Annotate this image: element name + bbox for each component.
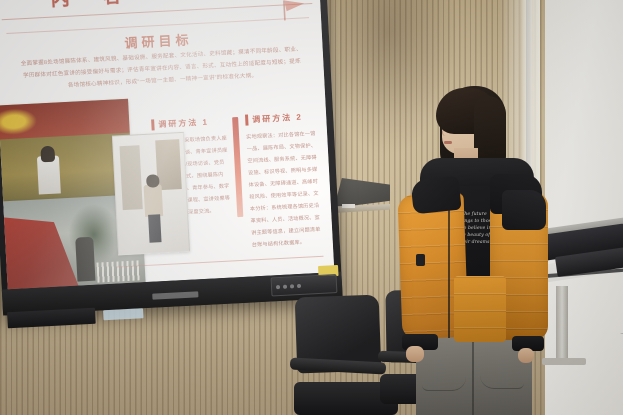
presenter: The future belongs to those who believe … (394, 86, 552, 415)
shelf-item (342, 204, 355, 208)
wall-mounted-shelf (334, 178, 390, 224)
jacket-shoulder-left (410, 176, 461, 215)
desk-cable (614, 290, 623, 334)
source-button-icon[interactable] (290, 284, 294, 288)
method-2-title: 调研方法 2 (245, 111, 317, 126)
display-screen[interactable]: 内 容 调研目标 全面掌握8处场馆展陈体系、建筑风貌、基础设施、服务配套、文化活… (0, 0, 334, 289)
method-2-body: 实地观察法：对比各馆在一馆一品、展陈布局、文物保护、空间流线、服务系统、无障碍设… (246, 129, 324, 252)
red-flag-icon (280, 0, 307, 23)
mouth (444, 141, 452, 144)
standing-person-figure (143, 176, 164, 243)
volume-button-icon[interactable] (283, 284, 287, 288)
hall-speaker-figure (36, 146, 60, 195)
figure-coat (144, 184, 164, 217)
display-brand-mark (152, 291, 198, 299)
party-emblem-icon (0, 108, 38, 136)
jacket-sleeve-black-yoke (502, 190, 546, 230)
slide-divider-bottom (117, 256, 324, 268)
power-button-icon[interactable] (276, 285, 280, 289)
method-1-title: 调研方法 1 (151, 116, 227, 131)
slide-divider-top (2, 3, 313, 20)
photo-scene: 内 容 调研目标 全面掌握8处场馆展陈体系、建筑风貌、基础设施、服务配套、文化活… (0, 0, 623, 415)
jacket-logo-patch (416, 254, 425, 266)
jacket-front-hem (454, 276, 506, 342)
hand-right (518, 348, 534, 363)
interior-room-photo (112, 132, 190, 256)
jacket-zipper (448, 198, 450, 338)
menu-button-icon[interactable] (297, 283, 301, 287)
display-control-panel[interactable] (271, 274, 338, 296)
hand-left (406, 346, 424, 362)
method-divider-bar (232, 117, 243, 217)
slide-title: 内 容 (50, 0, 137, 12)
white-fence (97, 260, 142, 282)
interactive-flat-panel-display[interactable]: 内 容 调研目标 全面掌握8处场馆展陈体系、建筑风貌、基础设施、服务配套、文化活… (0, 0, 343, 316)
pants-pocket-left (422, 364, 466, 391)
room-shelf (119, 145, 142, 210)
pants-pocket-right (480, 362, 524, 389)
presentation-slide: 内 容 调研目标 全面掌握8处场馆展陈体系、建筑风貌、基础设施、服务配套、文化活… (0, 0, 334, 289)
pants-seam (472, 338, 474, 415)
display-io-label (103, 308, 143, 320)
visitor-figure (75, 237, 95, 282)
figure-hair (40, 146, 55, 163)
desk-leg (556, 286, 568, 364)
jacket-quilting (454, 276, 506, 342)
figure-legs (148, 214, 161, 243)
method-block-2: 调研方法 2 实地观察法：对比各馆在一馆一品、展陈布局、文物保护、空间流线、服务… (245, 111, 324, 252)
